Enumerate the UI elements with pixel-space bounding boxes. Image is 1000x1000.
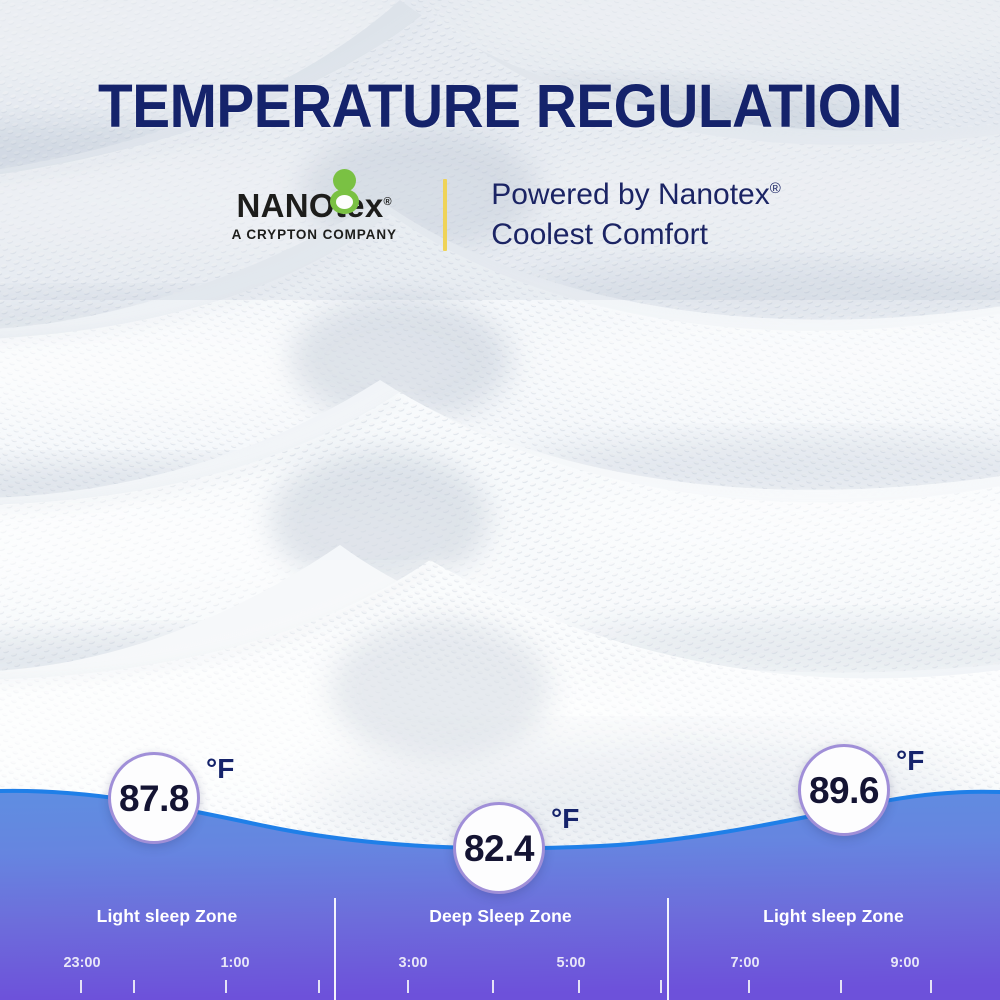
brand-row: NANOtex® A CRYPTON COMPANY Powered by Na…: [0, 165, 1000, 265]
axis-label-500: 5:00: [521, 955, 621, 971]
page-title: TEMPERATURE REGULATION: [35, 76, 965, 137]
tagline: Powered by Nanotex® Coolest Comfort: [491, 175, 781, 254]
tagline-registered-mark: ®: [770, 180, 781, 197]
axis-tick: [133, 980, 135, 993]
axis-tick: [492, 980, 494, 993]
temperature-badge-1-value: 87.8: [119, 780, 189, 817]
temperature-badge-3-value: 89.6: [809, 772, 879, 809]
time-axis: 23:00 1:00 3:00 5:00 7:00 9:00: [0, 955, 1000, 1000]
nanotex-logo-subtitle: A CRYPTON COMPANY: [232, 227, 397, 242]
temperature-badge-1[interactable]: 87.8 °F: [108, 752, 298, 862]
axis-tick: [840, 980, 842, 993]
nanotex-logo: NANOtex® A CRYPTON COMPANY: [219, 175, 409, 255]
temperature-badge-1-disc[interactable]: 87.8: [108, 752, 200, 844]
axis-tick: [748, 980, 750, 993]
axis-label-900: 9:00: [855, 955, 955, 971]
temperature-badge-3-disc[interactable]: 89.6: [798, 744, 890, 836]
nanotex-logo-text: NANOtex: [237, 187, 384, 224]
temperature-badge-2-unit: °F: [551, 805, 579, 833]
temperature-badge-3[interactable]: 89.6 °F: [798, 744, 988, 854]
temperature-badge-3-unit: °F: [896, 747, 924, 775]
axis-tick: [407, 980, 409, 993]
nanotex-registered-mark: ®: [384, 196, 392, 208]
zone-label-light-sleep-2: Light sleep Zone: [667, 906, 1000, 927]
axis-label-700: 7:00: [695, 955, 795, 971]
temperature-badge-2[interactable]: 82.4 °F: [453, 802, 643, 912]
brand-divider: [443, 179, 447, 251]
axis-tick: [578, 980, 580, 993]
axis-tick: [930, 980, 932, 993]
tagline-line-1-text: Powered by Nanotex: [491, 178, 770, 211]
axis-label-2300: 23:00: [32, 955, 132, 971]
axis-tick: [80, 980, 82, 993]
nanotex-logo-wordmark: NANOtex®: [237, 189, 392, 222]
axis-label-300: 3:00: [363, 955, 463, 971]
zone-label-light-sleep-1: Light sleep Zone: [0, 906, 334, 927]
promo-graphic: TEMPERATURE REGULATION NANOtex® A CRYPTO…: [0, 0, 1000, 1000]
axis-label-100: 1:00: [185, 955, 285, 971]
axis-tick: [318, 980, 320, 993]
temperature-badge-2-value: 82.4: [464, 830, 534, 867]
tagline-line-1: Powered by Nanotex®: [491, 175, 781, 215]
temperature-badge-1-unit: °F: [206, 755, 234, 783]
tagline-line-2: Coolest Comfort: [491, 215, 781, 255]
axis-tick: [660, 980, 662, 993]
axis-tick: [225, 980, 227, 993]
temperature-badge-2-disc[interactable]: 82.4: [453, 802, 545, 894]
